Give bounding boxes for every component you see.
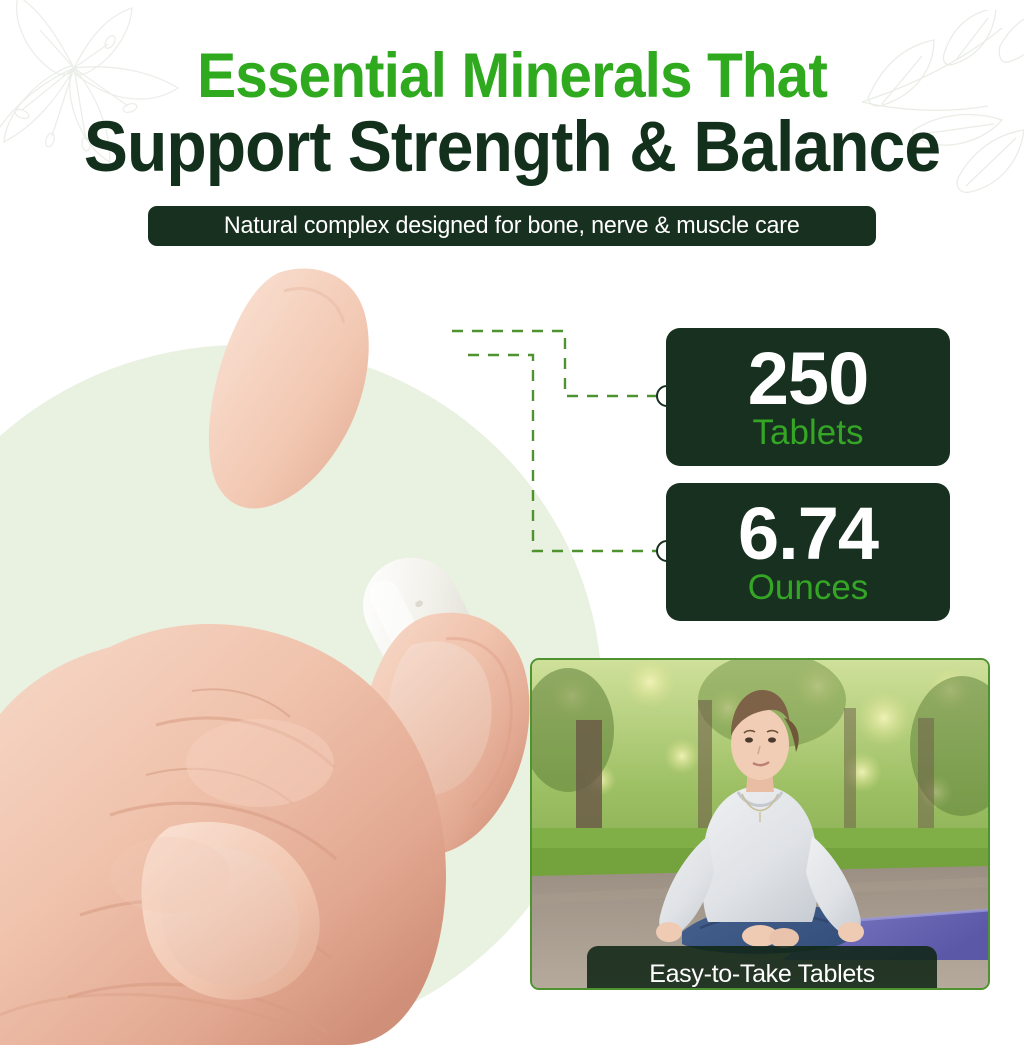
- lifestyle-photo: Easy-to-Take Tablets: [530, 658, 990, 990]
- photo-caption-text: Easy-to-Take Tablets: [649, 960, 875, 989]
- stat-value-ounces: 6.74: [738, 497, 878, 571]
- stat-card-ounces: 6.74 Ounces: [666, 483, 950, 621]
- stat-value-tablets: 250: [748, 342, 868, 416]
- stat-card-tablets: 250 Tablets: [666, 328, 950, 466]
- headline-line-2: Support Strength & Balance: [36, 108, 988, 188]
- stat-label-tablets: Tablets: [753, 414, 864, 452]
- meditation-scene-image: [532, 660, 988, 988]
- photo-caption-banner: Easy-to-Take Tablets: [587, 946, 937, 990]
- subtitle-text: Natural complex designed for bone, nerve…: [224, 212, 800, 240]
- headline-block: Essential Minerals That Support Strength…: [0, 40, 1024, 188]
- headline-line-1: Essential Minerals That: [36, 40, 988, 112]
- stat-label-ounces: Ounces: [748, 569, 869, 607]
- subtitle-banner: Natural complex designed for bone, nerve…: [148, 206, 876, 246]
